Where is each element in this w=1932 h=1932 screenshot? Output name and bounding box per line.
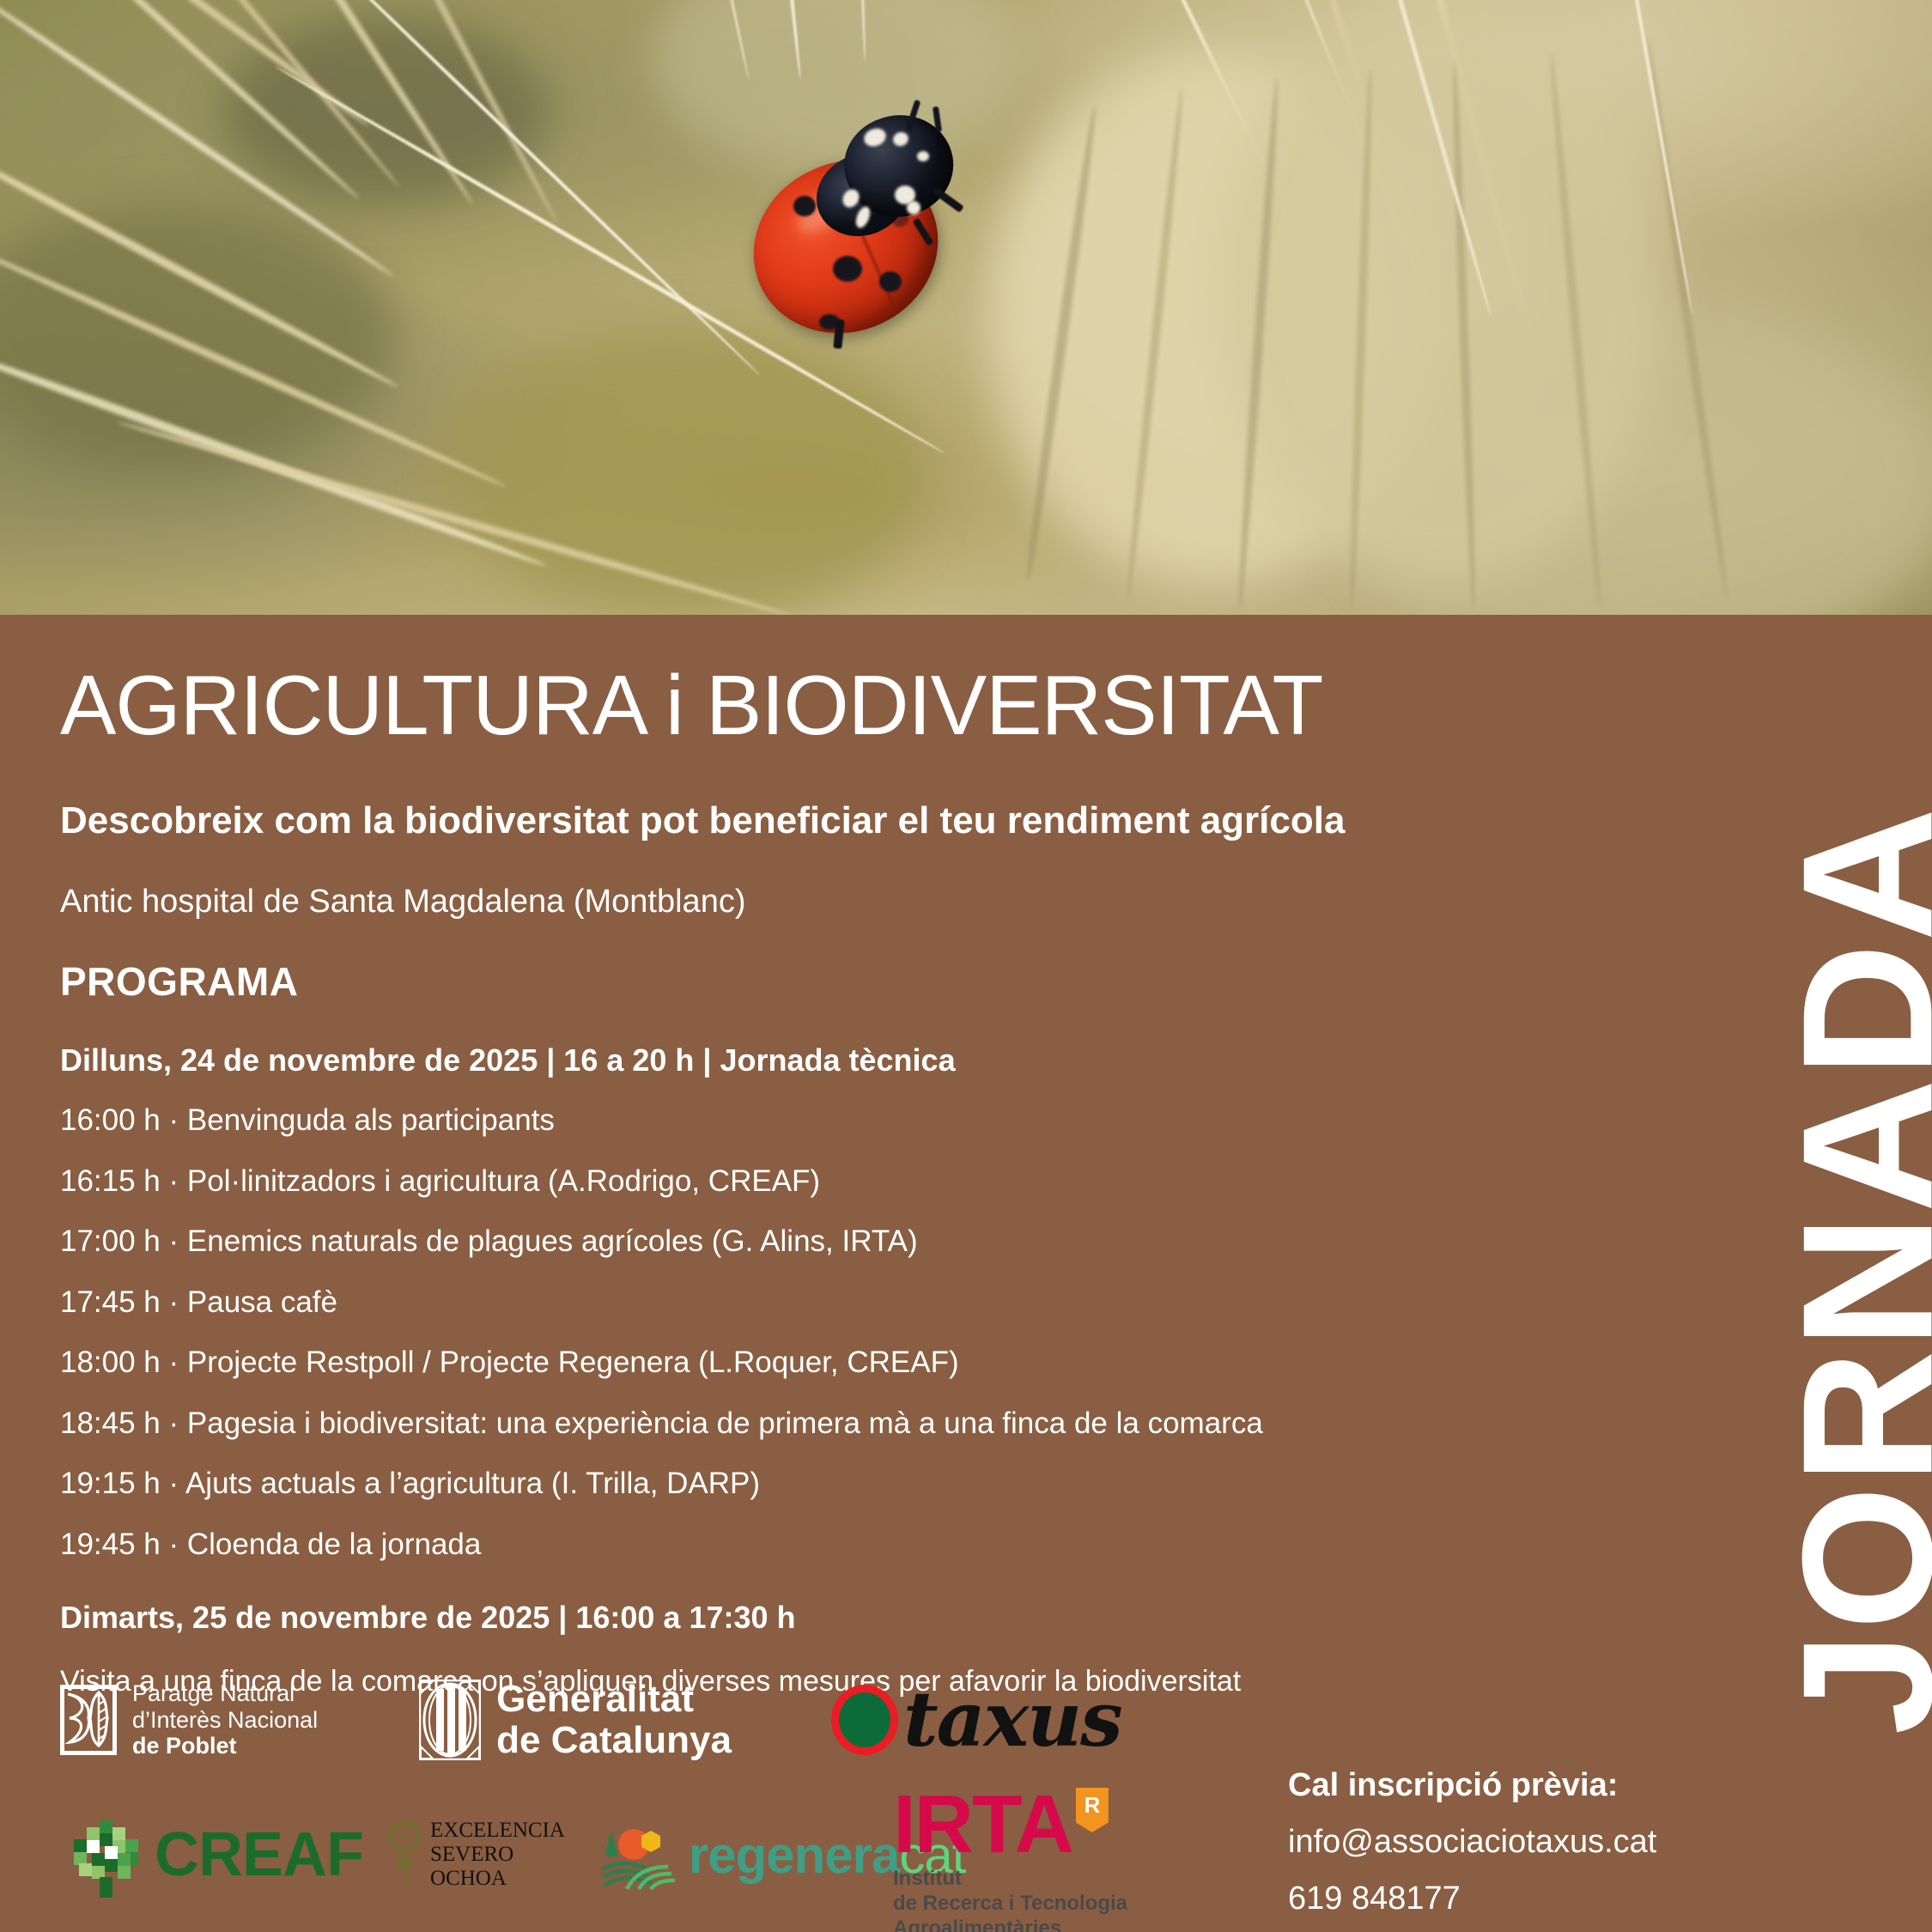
logo-row-secondary: CREAF EXCELENCIA SEVERO OCHOA [67,1795,965,1915]
generalitat-shield-icon [419,1680,481,1760]
severo-ochoa-line-1: EXCELENCIA [430,1819,565,1843]
contact-block: Cal inscripció prèvia: info@associaciota… [1288,1769,1656,1915]
creaf-tree-icon [67,1810,146,1899]
irta-sub-line-1: Institut [893,1867,1127,1892]
severo-ochoa-line-3: OCHOA [430,1867,565,1891]
generalitat-line-2: de Catalunya [496,1720,732,1761]
program-heading: PROGRAMA [60,920,1597,1004]
logo-row-primary: Paratge Natural d’Interès Nacional de Po… [60,1664,1121,1776]
day1-slot-1: 16:00 h · Benvinguda als participants [60,1077,1597,1138]
generalitat-wordmark: Generalitat de Catalunya [496,1679,732,1762]
logo-paratge-natural-poblet: Paratge Natural d’Interès Nacional de Po… [60,1680,318,1759]
day1-slot-6: 18:45 h · Pagesia i biodiversitat: una e… [60,1380,1597,1441]
logo-creaf: CREAF [67,1810,363,1899]
creaf-wordmark: CREAF [155,1827,363,1883]
day2-heading: Dimarts, 25 de novembre de 2025 | 16:00 … [60,1561,1597,1635]
logo-irta: IRTAR Institut de Recerca i Tecnologia A… [893,1788,1127,1932]
venue-text: Antic hospital de Santa Magdalena (Montb… [60,841,1597,920]
irta-sub-line-2: de Recerca i Tecnologia [893,1892,1127,1917]
header-photo [0,0,1932,615]
page-title: AGRICULTURA i BIODIVERSITAT [60,615,1597,747]
day1-slot-2: 16:15 h · Pol·linitzadors i agricultura … [60,1138,1597,1199]
logo-generalitat-catalunya: Generalitat de Catalunya [419,1679,732,1762]
logo-severo-ochoa: EXCELENCIA SEVERO OCHOA [363,1819,565,1891]
irta-subtitle: Institut de Recerca i Tecnologia Agroali… [893,1867,1127,1932]
poster-root: JORNADA AGRICULTURA i BIODIVERSITAT Desc… [0,0,1932,1932]
severo-ochoa-line-2: SEVERO [430,1843,565,1867]
poblet-line-1: Paratge Natural [132,1680,318,1707]
poblet-wordmark: Paratge Natural d’Interès Nacional de Po… [132,1680,318,1759]
day1-slot-5: 18:00 h · Projecte Restpoll / Projecte R… [60,1319,1597,1380]
day1-slot-3: 17:00 h · Enemics naturals de plagues ag… [60,1198,1597,1259]
day1-slot-4: 17:45 h · Pausa cafè [60,1259,1597,1320]
ladybug-illustration [740,94,1006,343]
severo-ochoa-icon [387,1821,422,1888]
logo-taxus: taxus [831,1685,1121,1755]
day1-slot-7: 19:15 h · Ajuts actuals a l’agricultura … [60,1440,1597,1501]
poblet-line-2: d’Interès Nacional [132,1707,318,1734]
regenera-field-icon [601,1819,677,1891]
poblet-line-3: de Poblet [132,1733,318,1759]
irta-registered-badge: R [1076,1788,1109,1832]
poster-subtitle: Descobreix com la biodiversitat pot bene… [60,747,1597,841]
taxus-circle-icon [831,1685,898,1755]
poblet-leaf-icon [60,1685,117,1755]
registration-notice: Cal inscripció prèvia: [1288,1769,1656,1801]
contact-phone[interactable]: 619 848177 [1288,1882,1656,1915]
generalitat-line-1: Generalitat [496,1679,732,1720]
irta-sub-line-3: Agroalimentàries [893,1917,1127,1932]
day1-slot-8: 19:45 h · Cloenda de la jornada [60,1501,1597,1562]
contact-email[interactable]: info@associaciotaxus.cat [1288,1826,1656,1858]
regenera-text: regenera [689,1826,899,1884]
taxus-wordmark: taxus [903,1686,1121,1753]
irta-wordmark: IRTA [893,1788,1072,1862]
day1-heading: Dilluns, 24 de novembre de 2025 | 16 a 2… [60,1004,1597,1078]
severo-ochoa-wordmark: EXCELENCIA SEVERO OCHOA [430,1819,565,1891]
